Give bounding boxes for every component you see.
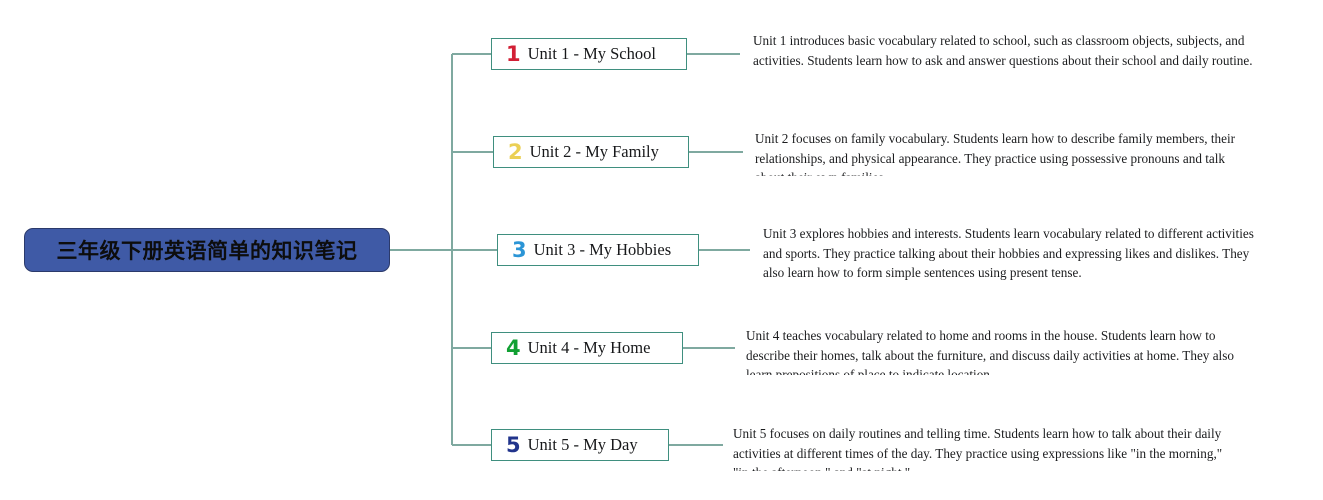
unit-description-4: Unit 4 teaches vocabulary related to hom… bbox=[746, 326, 1251, 375]
unit-label-3: Unit 3 - My Hobbies bbox=[534, 240, 672, 260]
unit-node-4[interactable]: 4 Unit 4 - My Home bbox=[491, 332, 683, 364]
unit-label-1: Unit 1 - My School bbox=[528, 44, 656, 64]
unit-node-5[interactable]: 5 Unit 5 - My Day bbox=[491, 429, 669, 461]
unit-node-3[interactable]: 3 Unit 3 - My Hobbies bbox=[497, 234, 699, 266]
unit-number-5: 5 bbox=[506, 435, 521, 456]
unit-description-1: Unit 1 introduces basic vocabulary relat… bbox=[753, 31, 1255, 78]
unit-number-3: 3 bbox=[512, 240, 527, 261]
unit-number-2: 2 bbox=[508, 142, 523, 163]
unit-number-1: 1 bbox=[506, 44, 521, 65]
unit-number-4: 4 bbox=[506, 338, 521, 359]
unit-description-2: Unit 2 focuses on family vocabulary. Stu… bbox=[755, 129, 1257, 176]
unit-label-2: Unit 2 - My Family bbox=[530, 142, 659, 162]
unit-label-4: Unit 4 - My Home bbox=[528, 338, 651, 358]
unit-node-1[interactable]: 1 Unit 1 - My School bbox=[491, 38, 687, 70]
unit-label-5: Unit 5 - My Day bbox=[528, 435, 638, 455]
mindmap-canvas: 三年级下册英语简单的知识笔记 1 Unit 1 - My School Unit… bbox=[0, 0, 1323, 500]
root-node[interactable]: 三年级下册英语简单的知识笔记 bbox=[24, 228, 390, 272]
unit-description-5: Unit 5 focuses on daily routines and tel… bbox=[733, 424, 1233, 471]
unit-description-3: Unit 3 explores hobbies and interests. S… bbox=[763, 224, 1257, 281]
unit-node-2[interactable]: 2 Unit 2 - My Family bbox=[493, 136, 689, 168]
root-node-label: 三年级下册英语简单的知识笔记 bbox=[57, 235, 358, 265]
